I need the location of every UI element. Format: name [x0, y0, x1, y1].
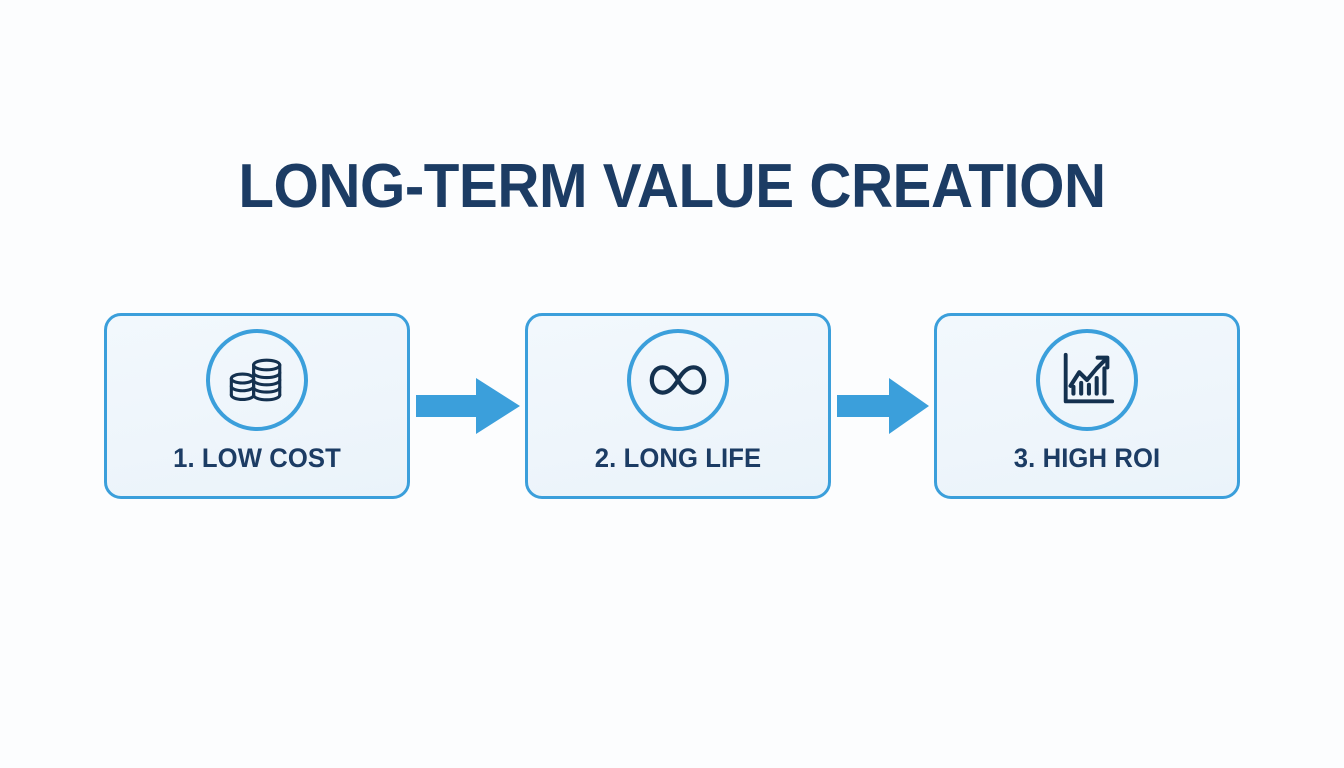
icon-circle	[627, 329, 729, 431]
step-card-long-life[interactable]: 2. LONG LIFE	[525, 313, 831, 499]
step-card-label: 2. LONG LIFE	[536, 442, 821, 474]
coin-stacks-icon	[226, 349, 288, 411]
page-title: LONG-TERM VALUE CREATION	[40, 152, 1303, 222]
step-card-label: 3. HIGH ROI	[945, 442, 1230, 474]
arrow-right-2-icon	[837, 374, 929, 438]
step-card-label: 1. LOW COST	[115, 442, 400, 474]
arrow-right-1-icon	[416, 374, 520, 438]
step-card-high-roi[interactable]: 3. HIGH ROI	[934, 313, 1240, 499]
icon-circle	[206, 329, 308, 431]
process-flow: 1. LOW COST 2. LONG LIFE	[104, 313, 1240, 499]
step-card-low-cost[interactable]: 1. LOW COST	[104, 313, 410, 499]
slide-canvas: LONG-TERM VALUE CREATION	[0, 0, 1344, 768]
infinity-icon	[647, 349, 709, 411]
icon-circle	[1036, 329, 1138, 431]
growth-chart-icon	[1056, 349, 1118, 411]
